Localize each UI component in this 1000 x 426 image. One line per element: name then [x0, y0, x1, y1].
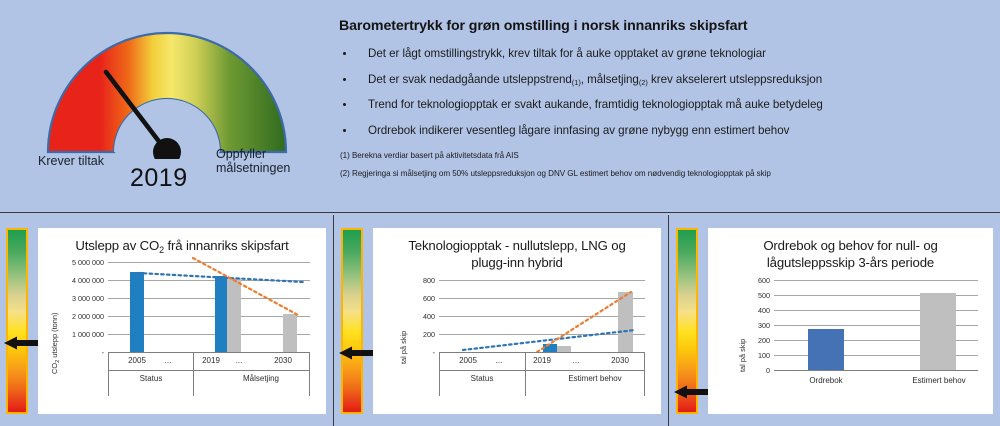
colorbar-gradient: [6, 228, 28, 414]
chart-title-line2: plugg-inn hybrid: [373, 254, 661, 271]
page-title: Barometertrykk for grøn omstilling i nor…: [339, 18, 996, 34]
trendline-malsetjing: [193, 258, 298, 315]
x-tick: 2030: [260, 356, 306, 365]
y-tick: -: [403, 348, 435, 357]
x-tick: Ordrebok: [796, 376, 856, 385]
charts-section: Utslepp av CO2 frå innanriks skipsfart C…: [0, 215, 1000, 426]
chart-title: Utslepp av CO2 frå innanriks skipsfart: [38, 228, 326, 256]
y-tick: 4 000 000: [56, 276, 104, 285]
barometer-text-panel: Barometertrykk for grøn omstilling i nor…: [336, 8, 996, 213]
y-axis-title-sub: 2: [55, 360, 61, 363]
bullet-list: Det er lågt omstillingstrykk, krev tilta…: [340, 47, 996, 137]
x-axis-left-tick: [108, 352, 109, 396]
y-tick: 1 000 000: [56, 330, 104, 339]
x-axis-left-tick: [439, 352, 440, 396]
x-tick: ...: [481, 356, 517, 365]
y-tick: 2 000 000: [56, 312, 104, 321]
gauge-year-label: 2019: [130, 164, 188, 193]
chart-title-line2: lågutsleppsskip 3-års periode: [708, 254, 993, 271]
x-tick: Estimert behov: [898, 376, 980, 385]
barometer-gauge: [40, 24, 295, 159]
x-tick: ...: [553, 356, 599, 365]
section-divider: [0, 212, 1000, 213]
trendline-behov: [537, 292, 631, 352]
x-group-label: Målsetjing: [216, 374, 306, 383]
colorbar-teknologiopptak: [341, 228, 363, 414]
bullet-text: Det er lågt omstillingstrykk, krev tilta…: [368, 47, 766, 60]
trendlines-svg: [439, 280, 647, 356]
gauge-panel: Krever tiltak Oppfyllermålsetningen 2019: [0, 4, 330, 209]
bullet-dot-icon: [343, 129, 346, 132]
chart-title-main: Utslepp av CO: [75, 238, 159, 253]
footnote-2: (2) Regjeringa si målsetjing om 50% utsl…: [340, 169, 996, 178]
utslepp-chart-card: Utslepp av CO2 frå innanriks skipsfart C…: [38, 228, 326, 414]
teknologiopptak-chart-card: Teknologiopptak - nullutslepp, LNG og pl…: [373, 228, 661, 414]
y-tick: 100: [744, 351, 770, 360]
colorbar-utslepp: [6, 228, 28, 414]
y-tick: 600: [744, 276, 770, 285]
y-tick: 800: [403, 276, 435, 285]
y-tick: 400: [744, 306, 770, 315]
y-tick: 400: [403, 312, 435, 321]
bullet-dot-icon: [343, 103, 346, 106]
chart-title: Teknologiopptak - nullutslepp, LNG og pl…: [373, 228, 661, 271]
bar-estimert-behov: [920, 293, 956, 370]
chart-title-line1: Ordrebok og behov for null- og: [708, 237, 993, 254]
utslepp-plot-area: CO2 utslepp (tonn) 5 000 000 4 000 000 3…: [38, 262, 326, 412]
gauge-label-oppfyller-malsetningen: Oppfyllermålsetningen: [216, 147, 290, 175]
teknologiopptak-plot-area: tal på skip 800 600 400 200 -: [373, 280, 661, 415]
y-tick: 500: [744, 291, 770, 300]
bullet-text: Trend for teknologiopptak er svakt aukan…: [368, 98, 823, 111]
colorbar-gradient: [341, 228, 363, 414]
y-tick: 200: [403, 330, 435, 339]
top-section: Krever tiltak Oppfyllermålsetningen 2019…: [0, 0, 1000, 213]
y-tick: -: [56, 348, 104, 357]
trendlines-svg: [108, 254, 313, 358]
gauge-svg: [40, 24, 295, 159]
y-tick: 200: [744, 336, 770, 345]
y-tick: 0: [744, 366, 770, 375]
chart-title-line1: Teknologiopptak - nullutslepp, LNG og: [373, 237, 661, 254]
ordrebok-chart-panel: Ordrebok og behov for null- og lågutslep…: [670, 215, 1000, 426]
x-axis-right-tick: [309, 352, 310, 396]
x-tick: 2030: [597, 356, 643, 365]
y-tick: 600: [403, 294, 435, 303]
ordrebok-plot-area: tal på skip 600 500 400 300 200 100 0: [708, 280, 993, 415]
trendline-status: [463, 330, 635, 350]
list-item: Trend for teknologiopptak er svakt aukan…: [340, 98, 996, 111]
bullet-dot-icon: [343, 52, 346, 55]
x-axis-line: [108, 352, 310, 353]
x-group-label: Estimert behov: [545, 374, 645, 383]
y-tick: 300: [744, 321, 770, 330]
bullet-dot-icon: [343, 78, 346, 81]
x-tick: ...: [150, 356, 186, 365]
teknologiopptak-chart-panel: Teknologiopptak - nullutslepp, LNG og pl…: [335, 215, 668, 426]
x-tick: ...: [216, 356, 262, 365]
chart-title: Ordrebok og behov for null- og lågutslep…: [708, 228, 993, 271]
gridline: [774, 280, 978, 281]
footnotes: (1) Berekna verdiar basert på aktivitets…: [336, 151, 996, 178]
colorbar-ordrebok: [676, 228, 698, 414]
chart-title-tail: frå innanriks skipsfart: [164, 238, 289, 253]
footnote-1: (1) Berekna verdiar basert på aktivitets…: [340, 151, 996, 160]
x-axis-group-line: [439, 370, 645, 371]
list-item: Det er lågt omstillingstrykk, krev tilta…: [340, 47, 996, 60]
x-axis-line: [774, 370, 978, 371]
bullet-text: Det er svak nedadgåande utsleppstrend(1)…: [368, 73, 822, 86]
gauge-label-krever-tiltak: Krever tiltak: [38, 154, 104, 168]
utslepp-chart-panel: Utslepp av CO2 frå innanriks skipsfart C…: [0, 215, 333, 426]
x-group-label: Status: [116, 374, 186, 383]
bar-ordrebok: [808, 329, 844, 370]
x-group-label: Status: [447, 374, 517, 383]
x-axis-line: [439, 352, 645, 353]
trendline-status: [138, 273, 303, 282]
y-axis-title-main: CO: [50, 363, 59, 374]
list-item: Det er svak nedadgåande utsleppstrend(1)…: [340, 73, 996, 86]
slide-root: Krever tiltak Oppfyllermålsetningen 2019…: [0, 0, 1000, 426]
x-axis-group-line: [108, 370, 310, 371]
y-tick: 3 000 000: [56, 294, 104, 303]
list-item: Ordrebok indikerer vesentleg lågare innf…: [340, 124, 996, 137]
bullet-text: Ordrebok indikerer vesentleg lågare innf…: [368, 124, 789, 137]
y-axis-title: CO2 utslepp (tonn): [50, 313, 59, 374]
ordrebok-chart-card: Ordrebok og behov for null- og lågutslep…: [708, 228, 993, 414]
y-tick: 5 000 000: [56, 258, 104, 267]
